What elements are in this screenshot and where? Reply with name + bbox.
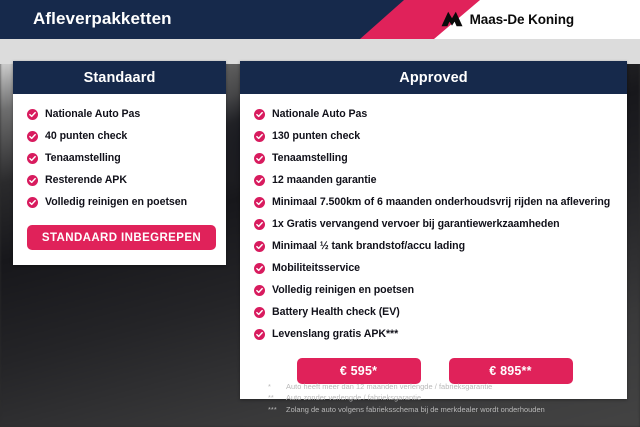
feature-item: 130 punten check: [254, 129, 615, 144]
feature-item: Tenaamstelling: [27, 151, 214, 166]
feature-label: Volledig reinigen en poetsen: [45, 195, 187, 210]
feature-item: Nationale Auto Pas: [254, 107, 615, 122]
check-circle-icon: [254, 307, 265, 318]
footnote-text: Auto heeft meer dan 12 maanden verlengde…: [286, 381, 628, 392]
feature-label: Minimaal 7.500km of 6 maanden onderhouds…: [272, 195, 610, 210]
footnote-text: Auto zonder verlengde / fabrieksgarantie: [286, 392, 628, 403]
check-circle-icon: [254, 153, 265, 164]
feature-list-approved: Nationale Auto Pas 130 punten check Tena…: [254, 107, 615, 342]
page-header: Afleverpakketten Maas-De Koning: [0, 0, 640, 39]
feature-list-standaard: Nationale Auto Pas 40 punten check Tenaa…: [27, 107, 214, 210]
card-header-approved: Approved: [240, 61, 627, 94]
card-header-standaard: Standaard: [13, 61, 226, 94]
check-circle-icon: [27, 153, 38, 164]
brand-logo: Maas-De Koning: [441, 11, 574, 27]
feature-item: Minimaal 7.500km of 6 maanden onderhouds…: [254, 195, 615, 210]
package-card-approved: Approved Nationale Auto Pas 130 punten c…: [240, 61, 627, 399]
footnotes: * Auto heeft meer dan 12 maanden verleng…: [268, 381, 628, 415]
feature-label: Resterende APK: [45, 173, 127, 188]
feature-item: Volledig reinigen en poetsen: [254, 283, 615, 298]
check-circle-icon: [254, 285, 265, 296]
brand-name: Maas-De Koning: [470, 12, 574, 27]
feature-label: Mobiliteitsservice: [272, 261, 360, 276]
card-body-approved: Nationale Auto Pas 130 punten check Tena…: [240, 94, 627, 399]
feature-item: Tenaamstelling: [254, 151, 615, 166]
check-circle-icon: [27, 197, 38, 208]
feature-item: 40 punten check: [27, 129, 214, 144]
footnote-text: Zolang de auto volgens fabrieksschema bi…: [286, 404, 628, 415]
check-circle-icon: [254, 131, 265, 142]
check-circle-icon: [254, 109, 265, 120]
feature-item: Nationale Auto Pas: [27, 107, 214, 122]
footnote-marker: **: [268, 392, 286, 403]
card-body-standaard: Nationale Auto Pas 40 punten check Tenaa…: [13, 94, 226, 265]
feature-label: 130 punten check: [272, 129, 360, 144]
feature-label: Tenaamstelling: [272, 151, 348, 166]
feature-label: Volledig reinigen en poetsen: [272, 283, 414, 298]
feature-item: Volledig reinigen en poetsen: [27, 195, 214, 210]
card-title-approved: Approved: [399, 70, 467, 86]
feature-item: Battery Health check (EV): [254, 305, 615, 320]
feature-label: 40 punten check: [45, 129, 127, 144]
footnote-item: * Auto heeft meer dan 12 maanden verleng…: [268, 381, 628, 392]
feature-item: Minimaal ½ tank brandstof/accu lading: [254, 239, 615, 254]
feature-item: Mobiliteitsservice: [254, 261, 615, 276]
page-title: Afleverpakketten: [33, 9, 172, 29]
footnote-item: ** Auto zonder verlengde / fabrieksgaran…: [268, 392, 628, 403]
check-circle-icon: [254, 219, 265, 230]
check-circle-icon: [27, 131, 38, 142]
check-circle-icon: [254, 175, 265, 186]
feature-label: Minimaal ½ tank brandstof/accu lading: [272, 239, 465, 254]
card-title-standaard: Standaard: [84, 70, 156, 86]
footnote-marker: *: [268, 381, 286, 392]
feature-label: Battery Health check (EV): [272, 305, 400, 320]
check-circle-icon: [254, 241, 265, 252]
check-circle-icon: [254, 329, 265, 340]
feature-label: Levenslang gratis APK***: [272, 327, 398, 342]
feature-label: Nationale Auto Pas: [272, 107, 367, 122]
feature-label: 12 maanden garantie: [272, 173, 376, 188]
footnote-marker: ***: [268, 404, 286, 415]
feature-label: Nationale Auto Pas: [45, 107, 140, 122]
feature-item: 1x Gratis vervangend vervoer bij garanti…: [254, 217, 615, 232]
maas-de-koning-m-mark-icon: [441, 11, 463, 27]
check-circle-icon: [27, 175, 38, 186]
feature-item: Resterende APK: [27, 173, 214, 188]
check-circle-icon: [254, 197, 265, 208]
package-card-standaard: Standaard Nationale Auto Pas 40 punten c…: [13, 61, 226, 265]
feature-label: Tenaamstelling: [45, 151, 121, 166]
feature-label: 1x Gratis vervangend vervoer bij garanti…: [272, 217, 560, 232]
footnote-item: *** Zolang de auto volgens fabrieksschem…: [268, 404, 628, 415]
feature-item: 12 maanden garantie: [254, 173, 615, 188]
feature-item: Levenslang gratis APK***: [254, 327, 615, 342]
check-circle-icon: [254, 263, 265, 274]
standaard-inbegrepen-button[interactable]: STANDAARD INBEGREPEN: [27, 225, 216, 250]
check-circle-icon: [27, 109, 38, 120]
